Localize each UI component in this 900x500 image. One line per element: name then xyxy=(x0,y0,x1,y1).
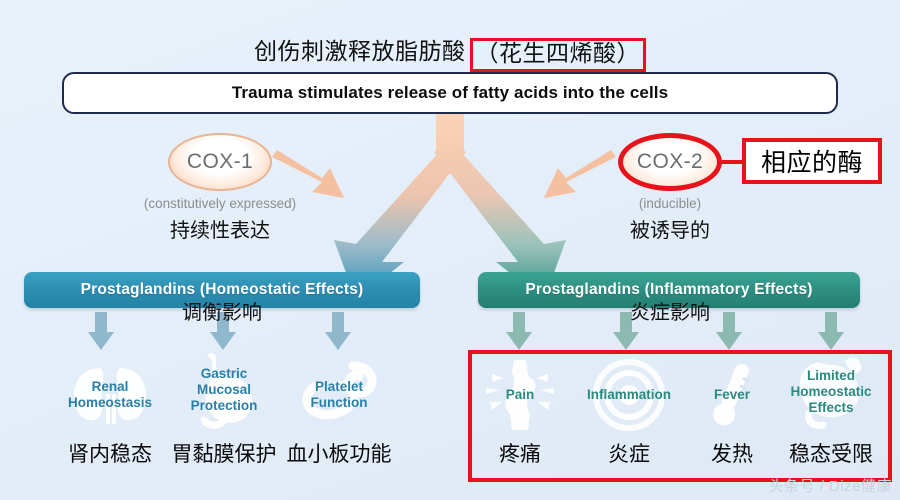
outcome-renal-chinese: 肾内稳态 xyxy=(44,438,176,468)
outcome-limited-chinese: 稳态受限 xyxy=(770,438,892,468)
cox1-chinese-note: 持续性表达 xyxy=(90,214,350,243)
cox2-ellipse: COX-2 xyxy=(618,133,722,191)
top-caption-boxed-term: （花生四烯酸） xyxy=(470,38,647,72)
outcome-fever-chinese: 发热 xyxy=(686,438,778,468)
down-arrow-platelet xyxy=(325,312,351,350)
outcome-gastric-mucosal-protection: GastricMucosalProtection 胃黏膜保护 xyxy=(158,348,290,468)
down-arrow-pain xyxy=(506,312,532,350)
kidney-icon: RenalHomeostasis xyxy=(44,358,176,432)
cox2-callout-text: 相应的酶 xyxy=(761,143,863,179)
outcome-gastric-label: GastricMucosalProtection xyxy=(191,366,258,414)
cox1-notes: (constitutively expressed) 持续性表达 xyxy=(90,196,350,243)
cox2-callout-box: 相应的酶 xyxy=(742,138,882,184)
stomach-icon: GastricMucosalProtection xyxy=(158,348,290,432)
cox2-notes: (inducible) 被诱导的 xyxy=(540,196,800,243)
down-arrow-limited-homeostatic xyxy=(818,312,844,350)
prostaglandins-homeostatic-chinese: 调衡影响 xyxy=(122,296,322,325)
outcome-inflammation-label: Inflammation xyxy=(587,387,671,403)
cox1-ellipse: COX-1 xyxy=(168,133,272,191)
outcome-fever: Fever 发热 xyxy=(686,358,778,468)
outcome-inflammation: Inflammation 炎症 xyxy=(564,358,694,468)
prostaglandins-inflammatory-chinese: 炎症影响 xyxy=(570,296,770,325)
diagram-canvas: 创伤刺激释放脂肪酸（花生四烯酸） Trauma stimulates relea… xyxy=(0,0,900,500)
cox2-label: COX-2 xyxy=(637,150,703,174)
trauma-statement-text: Trauma stimulates release of fatty acids… xyxy=(232,83,668,103)
outcome-pain-label: Pain xyxy=(506,387,535,403)
cox1-english-note: (constitutively expressed) xyxy=(90,196,350,211)
outcome-limited-homeostatic-effects: LimitedHomeostaticEffects 稳态受限 xyxy=(770,352,892,468)
platelet-icon: PlateletFunction xyxy=(278,358,400,432)
outcome-fever-label: Fever xyxy=(714,387,750,403)
outcome-renal-label: RenalHomeostasis xyxy=(68,379,152,411)
cox1-label: COX-1 xyxy=(187,150,253,174)
outcome-platelet-function: PlateletFunction 血小板功能 xyxy=(278,358,400,468)
organ-icon: LimitedHomeostaticEffects xyxy=(770,352,892,432)
outcome-limited-label: LimitedHomeostaticEffects xyxy=(790,368,871,416)
cox2-english-note: (inducible) xyxy=(540,196,800,211)
cox2-chinese-note: 被诱导的 xyxy=(540,214,800,243)
outcome-gastric-chinese: 胃黏膜保护 xyxy=(158,438,290,468)
outcome-inflammation-chinese: 炎症 xyxy=(564,438,694,468)
trauma-statement-box: Trauma stimulates release of fatty acids… xyxy=(62,72,838,114)
outcome-platelet-label: PlateletFunction xyxy=(311,379,368,411)
outcome-platelet-chinese: 血小板功能 xyxy=(278,438,400,468)
inflammation-rings-icon: Inflammation xyxy=(564,358,694,432)
outcome-pain: Pain 疼痛 xyxy=(468,358,572,468)
top-caption-plain: 创伤刺激释放脂肪酸 xyxy=(254,38,466,64)
thermometer-icon: Fever xyxy=(686,358,778,432)
top-caption: 创伤刺激释放脂肪酸（花生四烯酸） xyxy=(0,32,900,72)
joint-pain-icon: Pain xyxy=(468,358,572,432)
down-arrow-renal xyxy=(88,312,114,350)
watermark: 头条号 / Dize健康 xyxy=(768,475,892,496)
outcome-renal-homeostasis: RenalHomeostasis 肾内稳态 xyxy=(44,358,176,468)
outcome-pain-chinese: 疼痛 xyxy=(468,438,572,468)
